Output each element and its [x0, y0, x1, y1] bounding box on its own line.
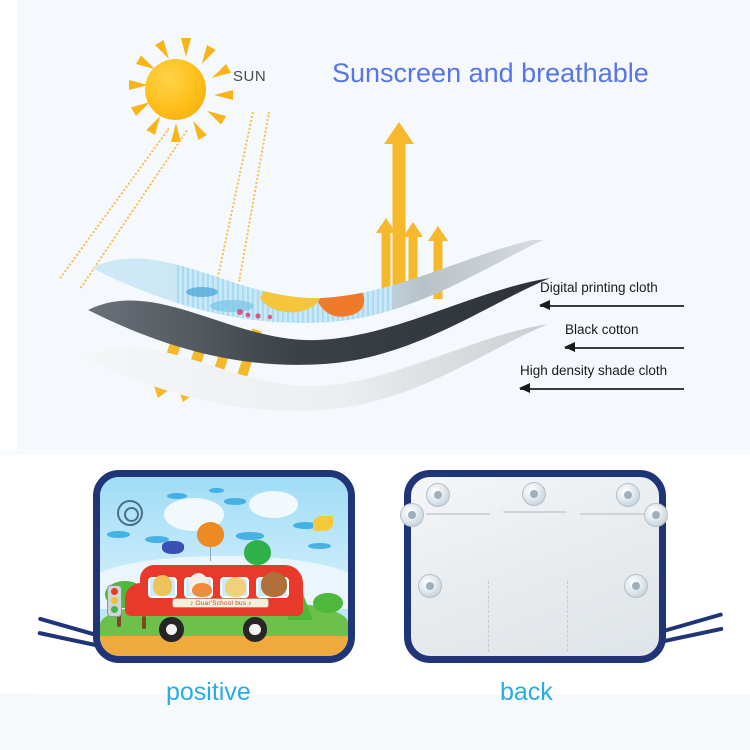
caption-back: back — [500, 678, 553, 707]
callout-label: Black cotton — [565, 322, 639, 337]
suction-cup-icon[interactable] — [616, 483, 640, 507]
callout-label: Digital printing cloth — [540, 280, 658, 295]
sunshade-front[interactable]: ♪ Ouar'School bus ♪ — [93, 470, 355, 663]
doodle-mark — [224, 498, 246, 504]
tree-crown — [313, 593, 343, 613]
caption-positive: positive — [166, 678, 251, 707]
seam — [580, 513, 644, 515]
sun-ray — [204, 106, 225, 124]
school-bus: ♪ Ouar'School bus ♪ — [140, 550, 304, 632]
fabric-layers-stack — [82, 240, 552, 420]
doodle-mark — [107, 531, 129, 538]
seam — [426, 513, 490, 515]
sun-label: SUN — [233, 68, 266, 85]
sun-doodle-icon — [124, 507, 139, 522]
callout-label: High density shade cloth — [520, 363, 667, 378]
character-giraffe — [153, 575, 173, 595]
seam-vertical — [567, 581, 568, 653]
sun-core — [145, 59, 206, 120]
sun-icon — [118, 32, 233, 147]
suction-cup-icon[interactable] — [624, 574, 648, 598]
character-bear — [261, 572, 287, 596]
suction-cup-icon[interactable] — [400, 503, 424, 527]
sunshade-front-panel: ♪ Ouar'School bus ♪ — [93, 470, 355, 663]
traffic-light-icon — [107, 585, 122, 617]
arrow-left-icon — [564, 342, 575, 352]
sun-ray — [188, 118, 206, 139]
top-left-white-strip — [0, 0, 17, 450]
butterfly-icon — [313, 516, 333, 530]
balloon-orange — [197, 522, 224, 547]
arrow-left-icon — [519, 383, 530, 393]
sun-ray — [209, 64, 230, 82]
character-cat — [225, 577, 246, 596]
arrow-left-icon — [539, 300, 550, 310]
suction-cup-icon[interactable] — [418, 574, 442, 598]
doodle-mark — [209, 488, 224, 493]
seam — [503, 511, 567, 513]
suction-cup-icon[interactable] — [522, 482, 546, 506]
doodle-mark — [236, 532, 263, 539]
page-title: Sunscreen and breathable — [332, 58, 649, 89]
scene-road — [100, 636, 348, 656]
bus-wheel — [243, 617, 268, 642]
bus-name-plate: ♪ Ouar'School bus ♪ — [172, 598, 269, 608]
suction-cup-icon[interactable] — [644, 503, 668, 527]
sunshade-back[interactable] — [404, 470, 666, 663]
sun-ray — [197, 44, 215, 65]
sun-ray — [181, 38, 191, 57]
sun-ray — [214, 90, 233, 100]
bus-body: ♪ Ouar'School bus ♪ — [140, 565, 304, 616]
suction-cup-icon[interactable] — [426, 483, 450, 507]
sun-ray — [155, 39, 173, 60]
seam-vertical — [488, 581, 489, 653]
character-fox — [192, 583, 212, 597]
infographic-canvas: SUN Sunscreen and breathable — [0, 0, 750, 750]
bus-wheel — [159, 617, 184, 642]
